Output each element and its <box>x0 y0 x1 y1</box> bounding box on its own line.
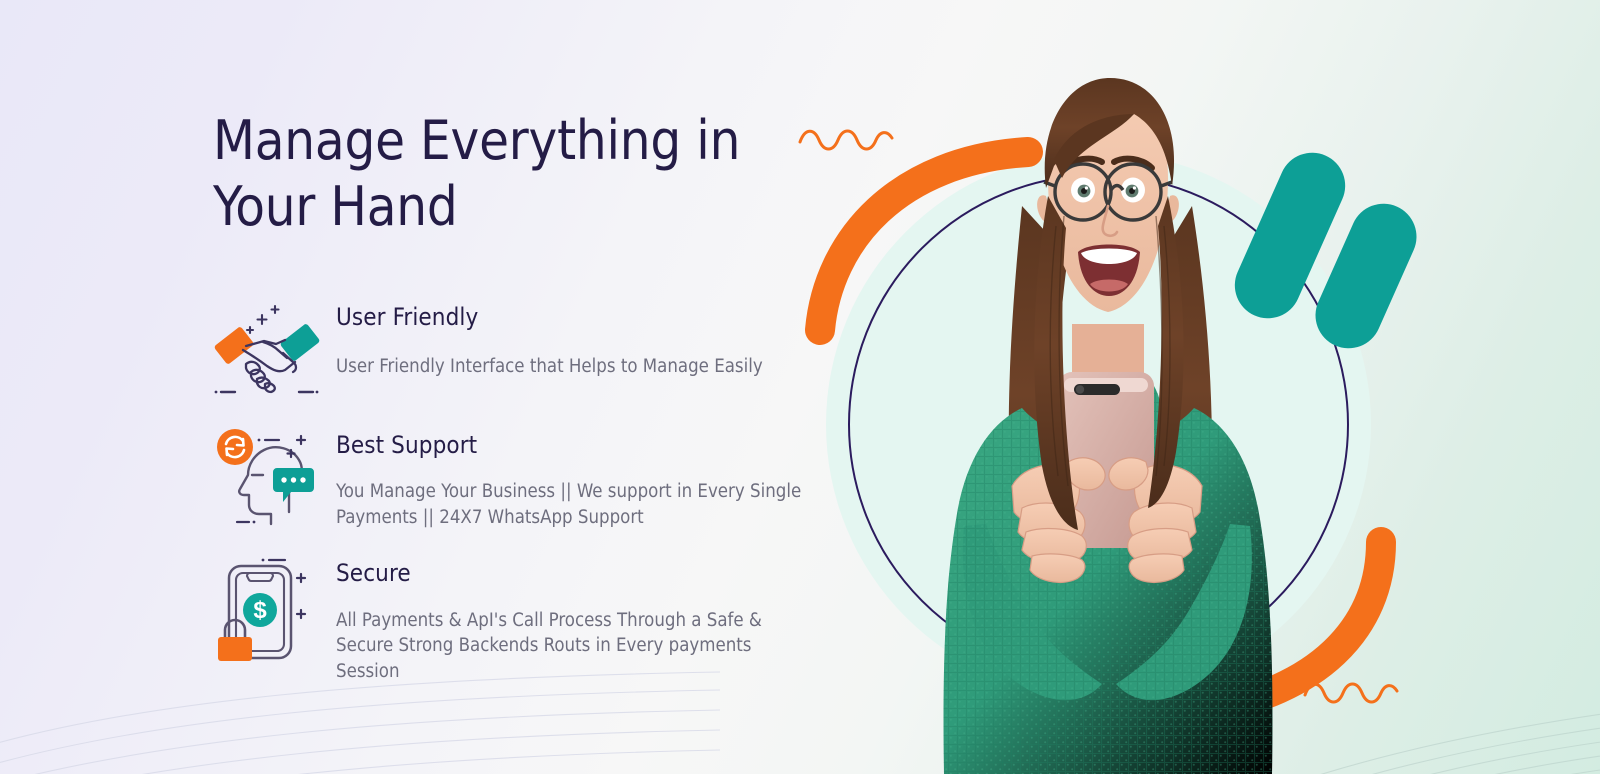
feature-text-block: Best Support You Manage Your Business ||… <box>321 426 806 530</box>
feature-text-block: Secure All Payments & ApI's Call Process… <box>321 554 806 684</box>
feature-title: Best Support <box>336 432 806 458</box>
feature-item-best-support: Best Support You Manage Your Business ||… <box>213 426 833 530</box>
secure-phone-lock-icon: $ <box>213 554 321 658</box>
feature-list: User Friendly User Friendly Interface th… <box>213 298 833 684</box>
feature-title: User Friendly <box>336 304 763 330</box>
feature-title: Secure <box>336 560 806 586</box>
hero-banner: Manage Everything in Your Hand <box>0 0 1600 774</box>
feature-text-block: User Friendly User Friendly Interface th… <box>321 298 763 380</box>
feature-description: User Friendly Interface that Helps to Ma… <box>336 354 763 380</box>
hero-artwork <box>760 0 1600 774</box>
page-title: Manage Everything in Your Hand <box>213 108 813 241</box>
feature-description: You Manage Your Business || We support i… <box>336 479 806 530</box>
support-head-chat-icon <box>213 426 321 530</box>
hero-text-column: Manage Everything in Your Hand <box>213 0 833 774</box>
feature-description: All Payments & ApI's Call Process Throug… <box>336 608 806 685</box>
feature-item-user-friendly: User Friendly User Friendly Interface th… <box>213 298 833 402</box>
feature-item-secure: $ Secure All <box>213 554 833 684</box>
svg-text:$: $ <box>253 597 267 624</box>
woman-with-smartphone-photo <box>872 56 1342 774</box>
handshake-icon <box>213 298 321 402</box>
